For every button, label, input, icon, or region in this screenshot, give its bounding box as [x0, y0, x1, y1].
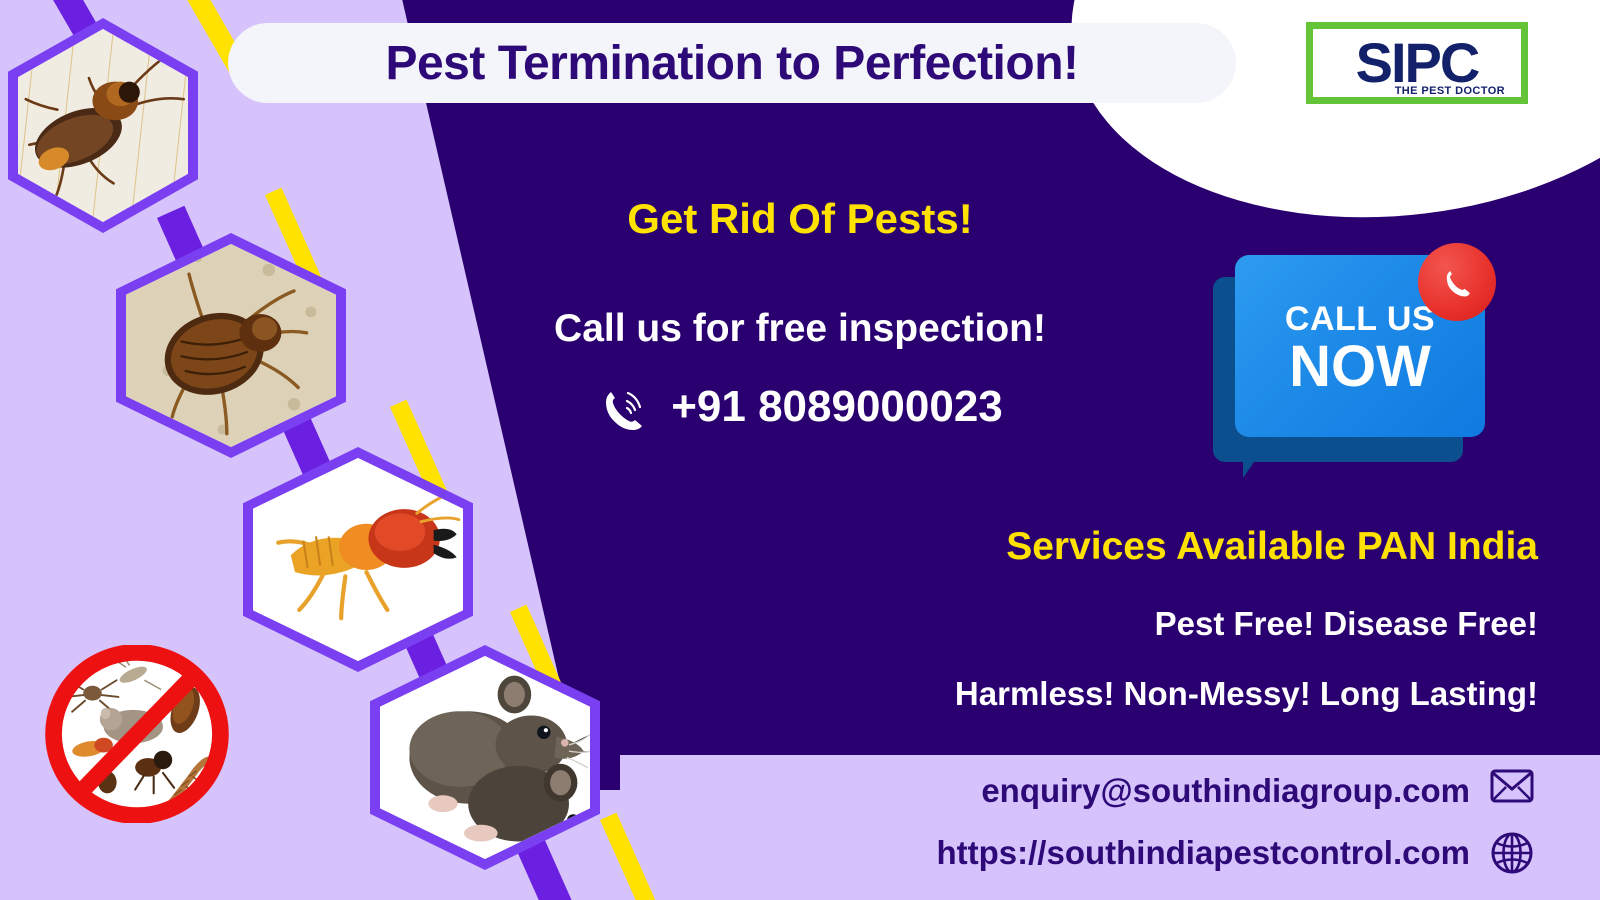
termite-photo — [253, 458, 463, 661]
now-label: NOW — [1289, 338, 1431, 396]
website-url[interactable]: https://southindiapestcontrol.com — [937, 834, 1471, 872]
main-message-block: Get Rid Of Pests! Call us for free inspe… — [520, 195, 1080, 433]
headline-banner: Pest Termination to Perfection! — [228, 23, 1236, 103]
services-heading: Services Available PAN India — [738, 525, 1538, 569]
page-title: Pest Termination to Perfection! — [385, 36, 1078, 91]
email-row[interactable]: enquiry@southindiagroup.com — [774, 760, 1534, 822]
phone-row[interactable]: +91 8089000023 — [520, 381, 1080, 433]
services-block: Services Available PAN India Pest Free! … — [738, 525, 1538, 713]
email-address[interactable]: enquiry@southindiagroup.com — [981, 772, 1470, 810]
sipc-logo: SIPC THE PEST DOCTOR — [1306, 22, 1528, 104]
logo-border-box: SIPC THE PEST DOCTOR — [1306, 22, 1528, 104]
cockroach-photo — [18, 29, 188, 222]
services-line-1: Pest Free! Disease Free! — [738, 605, 1538, 643]
call-us-label: CALL US — [1285, 302, 1435, 336]
bedbug-photo — [126, 244, 336, 447]
website-row[interactable]: https://southindiapestcontrol.com — [774, 822, 1534, 884]
call-us-now-button[interactable]: CALL US NOW — [1213, 255, 1483, 470]
phone-handset-icon[interactable] — [1418, 243, 1496, 321]
ringing-phone-icon — [597, 381, 649, 433]
globe-icon — [1490, 831, 1534, 875]
logo-wordmark: SIPC — [1327, 33, 1507, 93]
bubble-tail — [1243, 440, 1269, 478]
envelope-icon — [1490, 769, 1534, 813]
rats-photo — [380, 656, 590, 859]
contact-block: enquiry@southindiagroup.com https://sout… — [774, 760, 1534, 884]
services-line-2: Harmless! Non-Messy! Long Lasting! — [738, 675, 1538, 713]
get-rid-heading: Get Rid Of Pests! — [520, 195, 1080, 243]
phone-number[interactable]: +91 8089000023 — [671, 382, 1003, 432]
logo-tagline: THE PEST DOCTOR — [1327, 85, 1507, 97]
poster-canvas: Pest Termination to Perfection! SIPC THE… — [0, 0, 1600, 900]
no-pests-prohibition-sign — [42, 645, 232, 823]
free-inspection-subheading: Call us for free inspection! — [520, 307, 1080, 351]
